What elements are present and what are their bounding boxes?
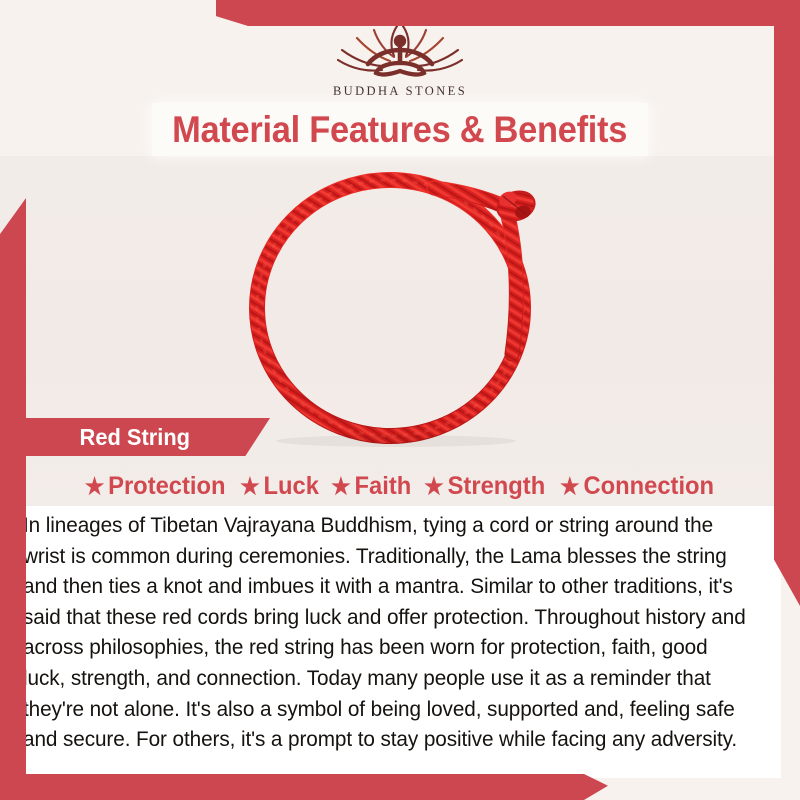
- brand-name: BUDDHA STONES: [0, 84, 800, 99]
- material-label-text: Red String: [28, 424, 190, 451]
- benefit-item-connection: ★ Connection: [560, 472, 714, 501]
- brand-logo: BUDDHA STONES: [0, 16, 800, 99]
- star-icon: ★: [560, 475, 580, 498]
- adjustable-knot: [492, 186, 539, 227]
- star-icon: ★: [331, 475, 351, 498]
- benefit-label: Protection: [109, 472, 226, 501]
- description-panel: In lineages of Tibetan Vajrayana Buddhis…: [19, 506, 781, 778]
- benefit-label: Luck: [263, 472, 318, 501]
- red-string-bracelet-image: [220, 158, 580, 448]
- benefit-item-luck: ★ Luck: [240, 472, 319, 501]
- benefit-item-strength: ★ Strength: [424, 472, 545, 501]
- description-text: In lineages of Tibetan Vajrayana Buddhis…: [23, 510, 754, 755]
- benefit-label: Strength: [448, 472, 546, 501]
- benefits-row: ★ Protection ★ Luck ★ Faith ★ Strength ★…: [0, 466, 800, 506]
- material-label-banner: Red String: [24, 418, 270, 456]
- page-title: Material Features & Benefits: [173, 109, 628, 151]
- frame-right-accent: [774, 26, 800, 606]
- benefit-item-protection: ★ Protection: [85, 472, 226, 501]
- star-icon: ★: [85, 475, 105, 498]
- page-title-band: Material Features & Benefits: [152, 103, 648, 156]
- star-icon: ★: [240, 475, 260, 498]
- benefit-item-faith: ★ Faith: [331, 472, 411, 501]
- infographic-page: BUDDHA STONES Material Features & Benefi…: [0, 0, 800, 800]
- star-icon: ★: [424, 475, 444, 498]
- frame-left-accent: [0, 198, 26, 800]
- benefit-label: Faith: [354, 472, 411, 501]
- benefit-label: Connection: [584, 472, 715, 501]
